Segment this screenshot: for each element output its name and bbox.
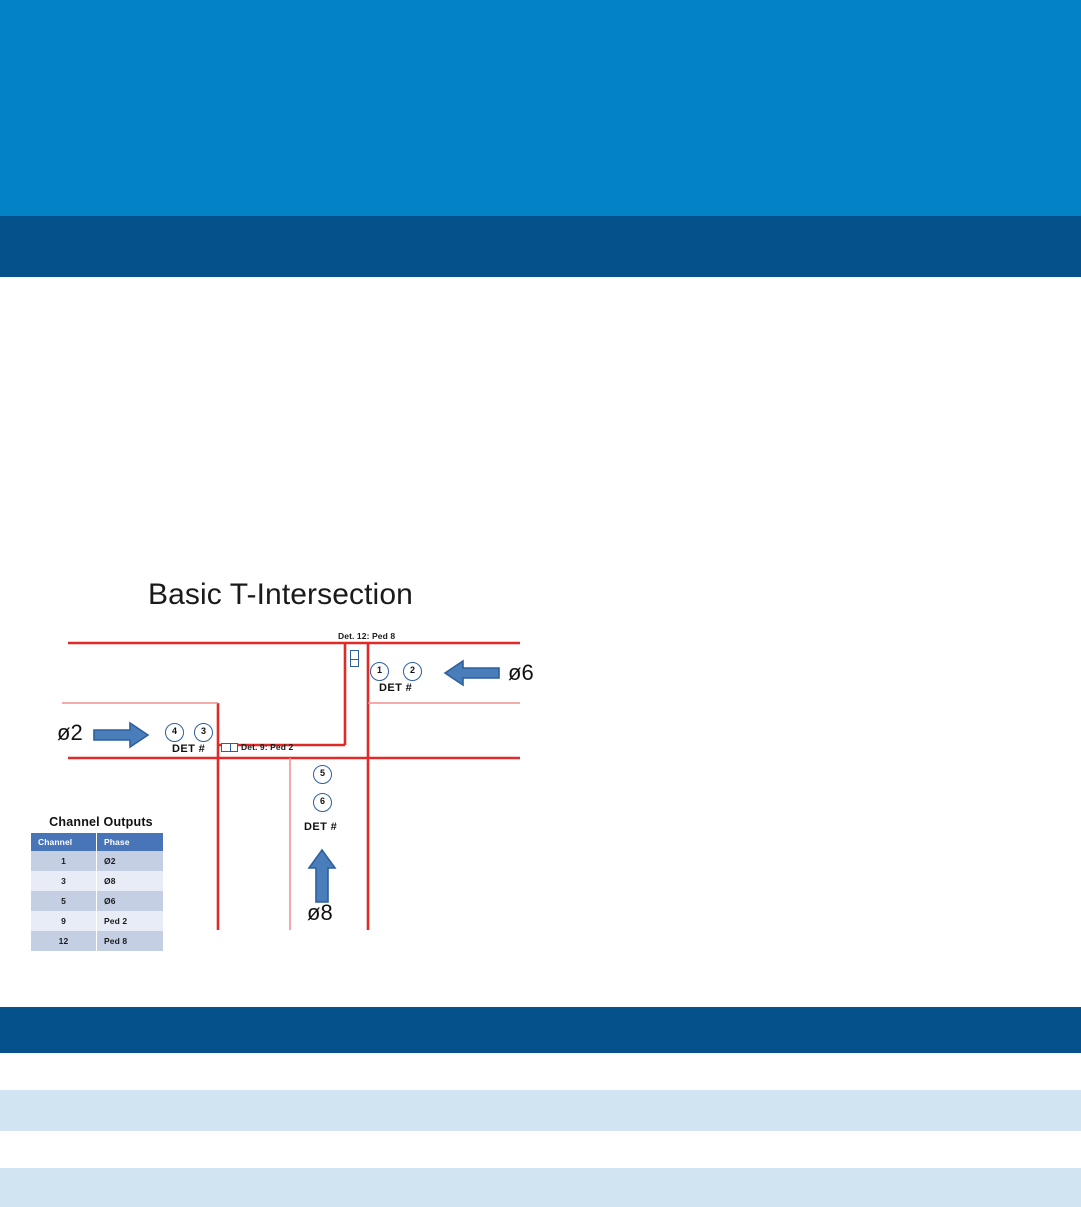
detector-circle-2[interactable]: 2 [403, 662, 422, 681]
header-band-secondary [0, 216, 1081, 277]
table-header-row: Channel Phase [31, 833, 163, 851]
column-header-channel: Channel [31, 833, 97, 851]
ped-detector-label-12: Det. 12: Ped 8 [338, 631, 395, 641]
cell-channel: 5 [31, 891, 97, 911]
ped-detector-label-9: Det. 9: Ped 2 [241, 742, 293, 752]
ped-signal-head-vertical-icon[interactable] [350, 650, 359, 667]
detector-circle-5[interactable]: 5 [313, 765, 332, 784]
column-header-phase: Phase [97, 833, 164, 851]
footer-rule-band [0, 1007, 1081, 1053]
cell-channel: 12 [31, 931, 97, 951]
detector-circle-4[interactable]: 4 [165, 723, 184, 742]
cell-channel: 3 [31, 871, 97, 891]
header-band-primary [0, 0, 1081, 216]
channel-outputs-table: Channel Phase 1Ø23Ø85Ø69Ped 212Ped 8 [31, 833, 163, 951]
channel-outputs-block: Channel Outputs Channel Phase 1Ø23Ø85Ø69… [31, 815, 163, 951]
table-row: 9Ped 2 [31, 911, 163, 931]
arrow-westbound-icon [443, 658, 501, 688]
arrow-northbound-icon [305, 848, 339, 904]
cell-phase: Ped 2 [97, 911, 164, 931]
table-row: 3Ø8 [31, 871, 163, 891]
channel-outputs-caption: Channel Outputs [31, 815, 163, 829]
detector-circle-3[interactable]: 3 [194, 723, 213, 742]
footer-table-row-1 [0, 1090, 1081, 1131]
cell-channel: 1 [31, 851, 97, 871]
phase-label-6: ø6 [508, 660, 534, 686]
ped-signal-head-horizontal-icon[interactable] [221, 743, 238, 752]
det-hash-label-nb: DET # [304, 821, 337, 833]
detector-circle-1[interactable]: 1 [370, 662, 389, 681]
det-hash-label-wb: DET # [379, 682, 412, 694]
footer-table-row-2 [0, 1168, 1081, 1207]
table-row: 5Ø6 [31, 891, 163, 911]
phase-label-2: ø2 [57, 720, 83, 746]
det-hash-label-eb: DET # [172, 743, 205, 755]
cell-phase: Ø6 [97, 891, 164, 911]
cell-phase: Ø8 [97, 871, 164, 891]
cell-channel: 9 [31, 911, 97, 931]
page-canvas: Basic T-Intersection [0, 0, 1081, 1207]
phase-label-8: ø8 [307, 900, 333, 926]
table-row: 1Ø2 [31, 851, 163, 871]
table-row: 12Ped 8 [31, 931, 163, 951]
arrow-eastbound-icon [92, 720, 150, 750]
cell-phase: Ped 8 [97, 931, 164, 951]
cell-phase: Ø2 [97, 851, 164, 871]
detector-circle-6[interactable]: 6 [313, 793, 332, 812]
